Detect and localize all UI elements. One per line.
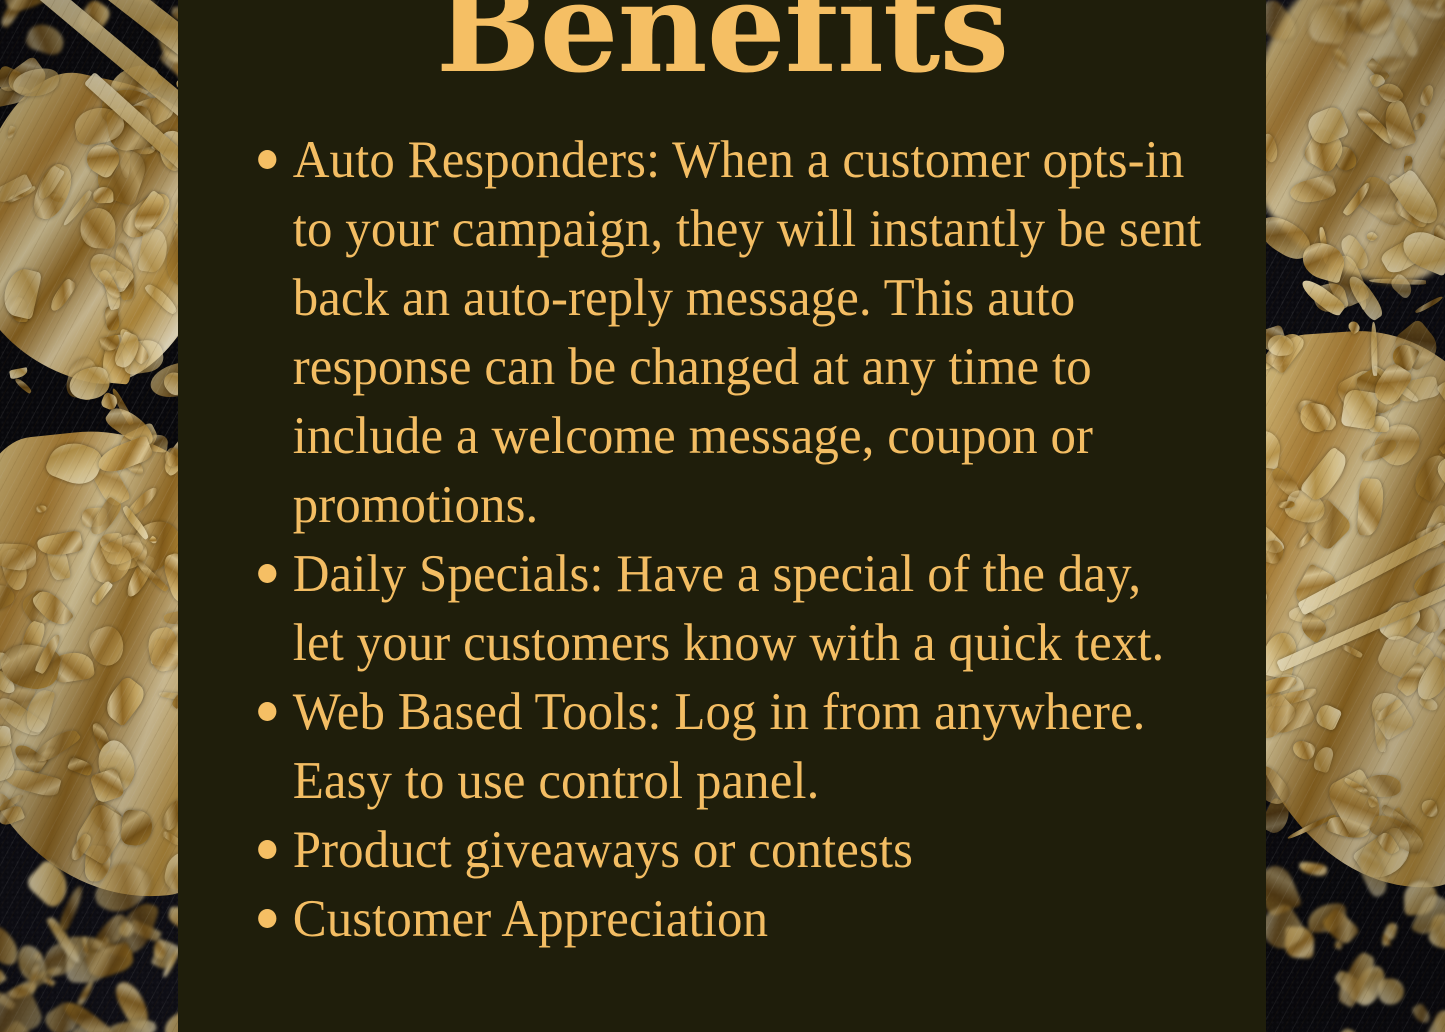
list-item-text: Auto Responders: When a customer opts-in… <box>293 131 1202 534</box>
content-panel: Benefits Auto Responders: When a custome… <box>178 0 1266 1032</box>
bullet-dot-icon <box>258 702 276 721</box>
list-item: Daily Specials: Have a special of the da… <box>214 540 1203 678</box>
list-item-text: Daily Specials: Have a special of the da… <box>293 545 1165 672</box>
list-item: Product giveaways or contests <box>214 816 1203 885</box>
page-title: Benefits <box>178 0 1266 92</box>
list-item: Web Based Tools: Log in from anywhere. E… <box>214 678 1203 816</box>
list-item-text: Customer Appreciation <box>293 890 768 948</box>
benefits-list: Auto Responders: When a customer opts-in… <box>214 126 1244 954</box>
list-item-text: Product giveaways or contests <box>293 821 913 879</box>
list-item: Auto Responders: When a customer opts-in… <box>214 126 1203 540</box>
list-item-text: Web Based Tools: Log in from anywhere. E… <box>293 683 1146 810</box>
bullet-dot-icon <box>258 840 276 859</box>
bullet-dot-icon <box>258 564 276 583</box>
bullet-dot-icon <box>258 909 276 928</box>
list-item: Customer Appreciation <box>214 885 1203 954</box>
bullet-dot-icon <box>258 150 276 169</box>
poster-canvas: Benefits Auto Responders: When a custome… <box>0 0 1445 1032</box>
